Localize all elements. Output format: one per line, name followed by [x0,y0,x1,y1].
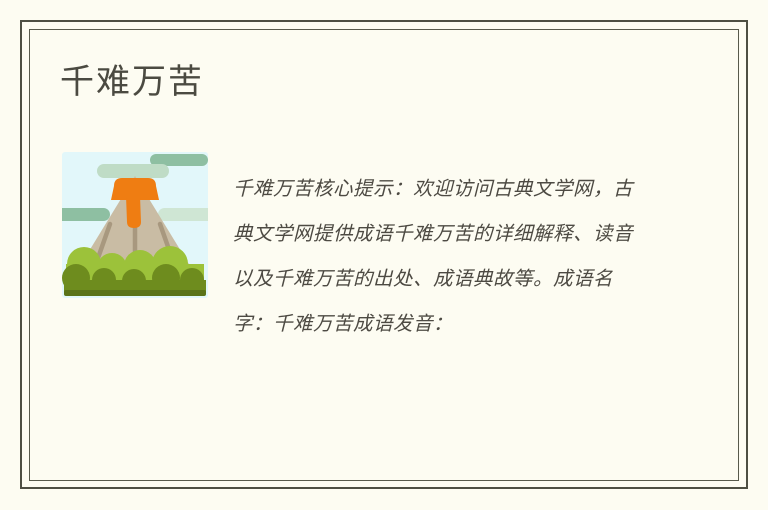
cloud-right-icon [158,208,208,221]
page-title: 千难万苦 [60,60,204,104]
cloud-left-icon [62,208,110,221]
page-root: 千难万苦 [0,0,768,510]
ground-strip [64,290,206,296]
volcano-illustration [62,152,208,298]
volcano-icon [62,152,208,298]
description-text: 千难万苦核心提示：欢迎访问古典文学网，古典文学网提供成语千难万苦的详细解释、读音… [233,166,651,346]
cloud-upper-middle-icon [97,164,169,178]
lava-flow [126,196,141,228]
